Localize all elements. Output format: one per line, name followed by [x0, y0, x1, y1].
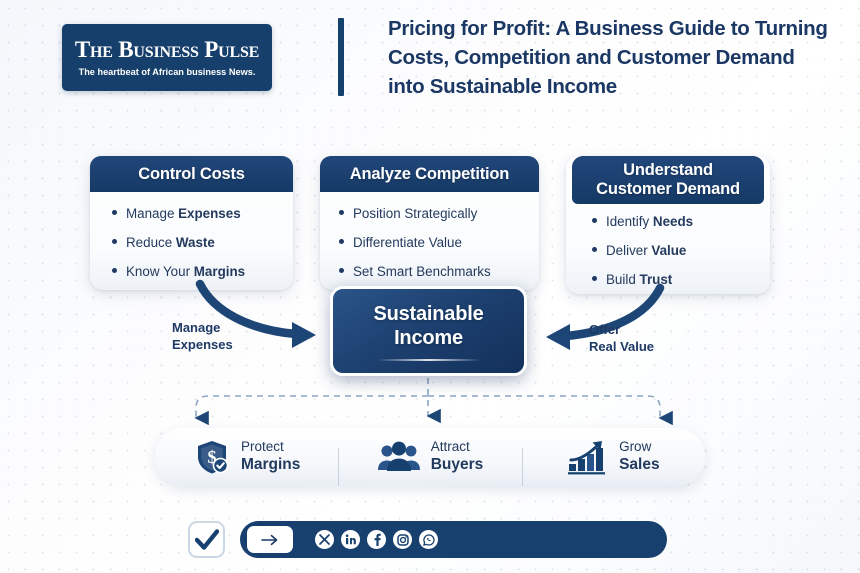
bullet-text: Build — [606, 272, 640, 287]
list-item: Build Trust — [592, 272, 770, 289]
bullet-dot-icon — [339, 239, 344, 244]
center-line1: Sustainable — [373, 303, 483, 325]
card-bullet-list: Position Strategically Differentiate Val… — [320, 192, 539, 280]
center-line2: Income — [394, 327, 463, 349]
outcome-attract-buyers[interactable]: Attract Buyers — [338, 439, 521, 474]
facebook-icon[interactable] — [367, 530, 386, 549]
linkedin-icon[interactable] — [341, 530, 360, 549]
list-item: Identify Needs — [592, 214, 770, 231]
bullet-emphasis: Trust — [640, 272, 673, 287]
list-item: Position Strategically — [339, 206, 539, 223]
bar-chart-growth-icon — [567, 439, 609, 475]
card-heading-line2: Customer Demand — [596, 180, 740, 199]
checkmark-icon — [195, 529, 219, 551]
linkedin-glyph — [345, 534, 357, 545]
outcome-label: Attract Buyers — [431, 439, 484, 474]
bullet-emphasis: Value — [651, 243, 686, 258]
label-line2: Expenses — [172, 337, 233, 352]
bullet-dot-icon — [112, 239, 117, 244]
x-glyph — [319, 534, 330, 545]
center-node-label: Sustainable Income — [373, 302, 483, 350]
outcome-bottom: Buyers — [431, 456, 484, 475]
bullet-text: Identify — [606, 214, 653, 229]
card-heading: Understand Customer Demand — [572, 156, 764, 204]
card-heading: Analyze Competition — [320, 156, 539, 192]
list-item: Set Smart Benchmarks — [339, 264, 539, 281]
card-bullet-list: Identify Needs Deliver Value Build Trust — [566, 204, 770, 288]
card-heading-line1: Understand — [623, 161, 713, 180]
outcome-grow-sales[interactable]: Grow Sales — [522, 439, 705, 475]
label-line1: Offer — [589, 322, 620, 337]
label-manage-expenses: Manage Expenses — [172, 320, 233, 354]
x-twitter-icon[interactable] — [315, 530, 334, 549]
label-line1: Manage — [172, 320, 220, 335]
brand-logo-name: The Business Pulse — [75, 38, 259, 61]
page-title: Pricing for Profit: A Business Guide to … — [388, 14, 828, 101]
outcome-label: Protect Margins — [241, 439, 300, 474]
bullet-dot-icon — [339, 210, 344, 215]
bullet-emphasis: Needs — [653, 214, 693, 229]
list-item: Differentiate Value — [339, 235, 539, 252]
outcome-bottom: Sales — [619, 456, 660, 475]
outcome-top: Protect — [241, 439, 284, 454]
brand-logo-tagline: The heartbeat of African business News. — [79, 67, 256, 77]
card-understand-customer-demand[interactable]: Understand Customer Demand Identify Need… — [566, 156, 770, 294]
outcomes-bar: $ Protect Margins Attract Buyers — [155, 428, 705, 486]
card-bullet-list: Manage Expenses Reduce Waste Know Your M… — [90, 192, 293, 280]
bullet-dot-icon — [592, 247, 597, 252]
bullet-text: Reduce — [126, 235, 176, 250]
list-item: Manage Expenses — [112, 206, 293, 223]
people-group-icon — [377, 440, 421, 474]
infographic-canvas: The Business Pulse The heartbeat of Afri… — [0, 0, 860, 573]
card-heading: Control Costs — [90, 156, 293, 192]
card-control-costs[interactable]: Control Costs Manage Expenses Reduce Was… — [90, 156, 293, 290]
bullet-text: Know Your — [126, 264, 194, 279]
brand-logo[interactable]: The Business Pulse The heartbeat of Afri… — [62, 24, 272, 91]
shield-dollar-check-icon: $ — [193, 438, 231, 476]
bullet-text: Differentiate Value — [353, 235, 462, 250]
bullet-emphasis: Margins — [194, 264, 245, 279]
center-underline-flourish — [377, 359, 481, 361]
bullet-dot-icon — [112, 210, 117, 215]
title-divider — [338, 18, 344, 96]
bullet-text: Deliver — [606, 243, 651, 258]
list-item: Deliver Value — [592, 243, 770, 260]
bullet-dot-icon — [339, 268, 344, 273]
outcome-label: Grow Sales — [619, 439, 660, 474]
bullet-dot-icon — [592, 276, 597, 281]
bullet-dot-icon — [112, 268, 117, 273]
checkmark-button[interactable] — [188, 521, 225, 558]
social-bar — [240, 521, 667, 558]
whatsapp-glyph — [423, 534, 435, 546]
dashed-connectors — [196, 378, 660, 418]
outcome-protect-margins[interactable]: $ Protect Margins — [155, 438, 338, 476]
bullet-emphasis: Expenses — [178, 206, 241, 221]
instagram-icon[interactable] — [393, 530, 412, 549]
outcome-top: Grow — [619, 439, 651, 454]
arrow-right-icon — [261, 534, 279, 546]
facebook-glyph — [373, 533, 381, 546]
header: The Business Pulse The heartbeat of Afri… — [0, 0, 860, 112]
bullet-text: Set Smart Benchmarks — [353, 264, 491, 279]
list-item: Know Your Margins — [112, 264, 293, 281]
label-line2: Real Value — [589, 339, 654, 354]
social-links — [315, 530, 438, 549]
center-node-sustainable-income[interactable]: Sustainable Income — [330, 286, 527, 376]
bullet-dot-icon — [592, 218, 597, 223]
next-arrow-button[interactable] — [247, 526, 293, 553]
card-analyze-competition[interactable]: Analyze Competition Position Strategical… — [320, 156, 539, 290]
outcome-bottom: Margins — [241, 456, 300, 475]
bullet-emphasis: Waste — [176, 235, 215, 250]
bullet-text: Position Strategically — [353, 206, 477, 221]
instagram-glyph — [397, 534, 409, 546]
whatsapp-icon[interactable] — [419, 530, 438, 549]
outcome-top: Attract — [431, 439, 470, 454]
list-item: Reduce Waste — [112, 235, 293, 252]
label-offer-real-value: Offer Real Value — [589, 322, 654, 356]
bullet-text: Manage — [126, 206, 178, 221]
